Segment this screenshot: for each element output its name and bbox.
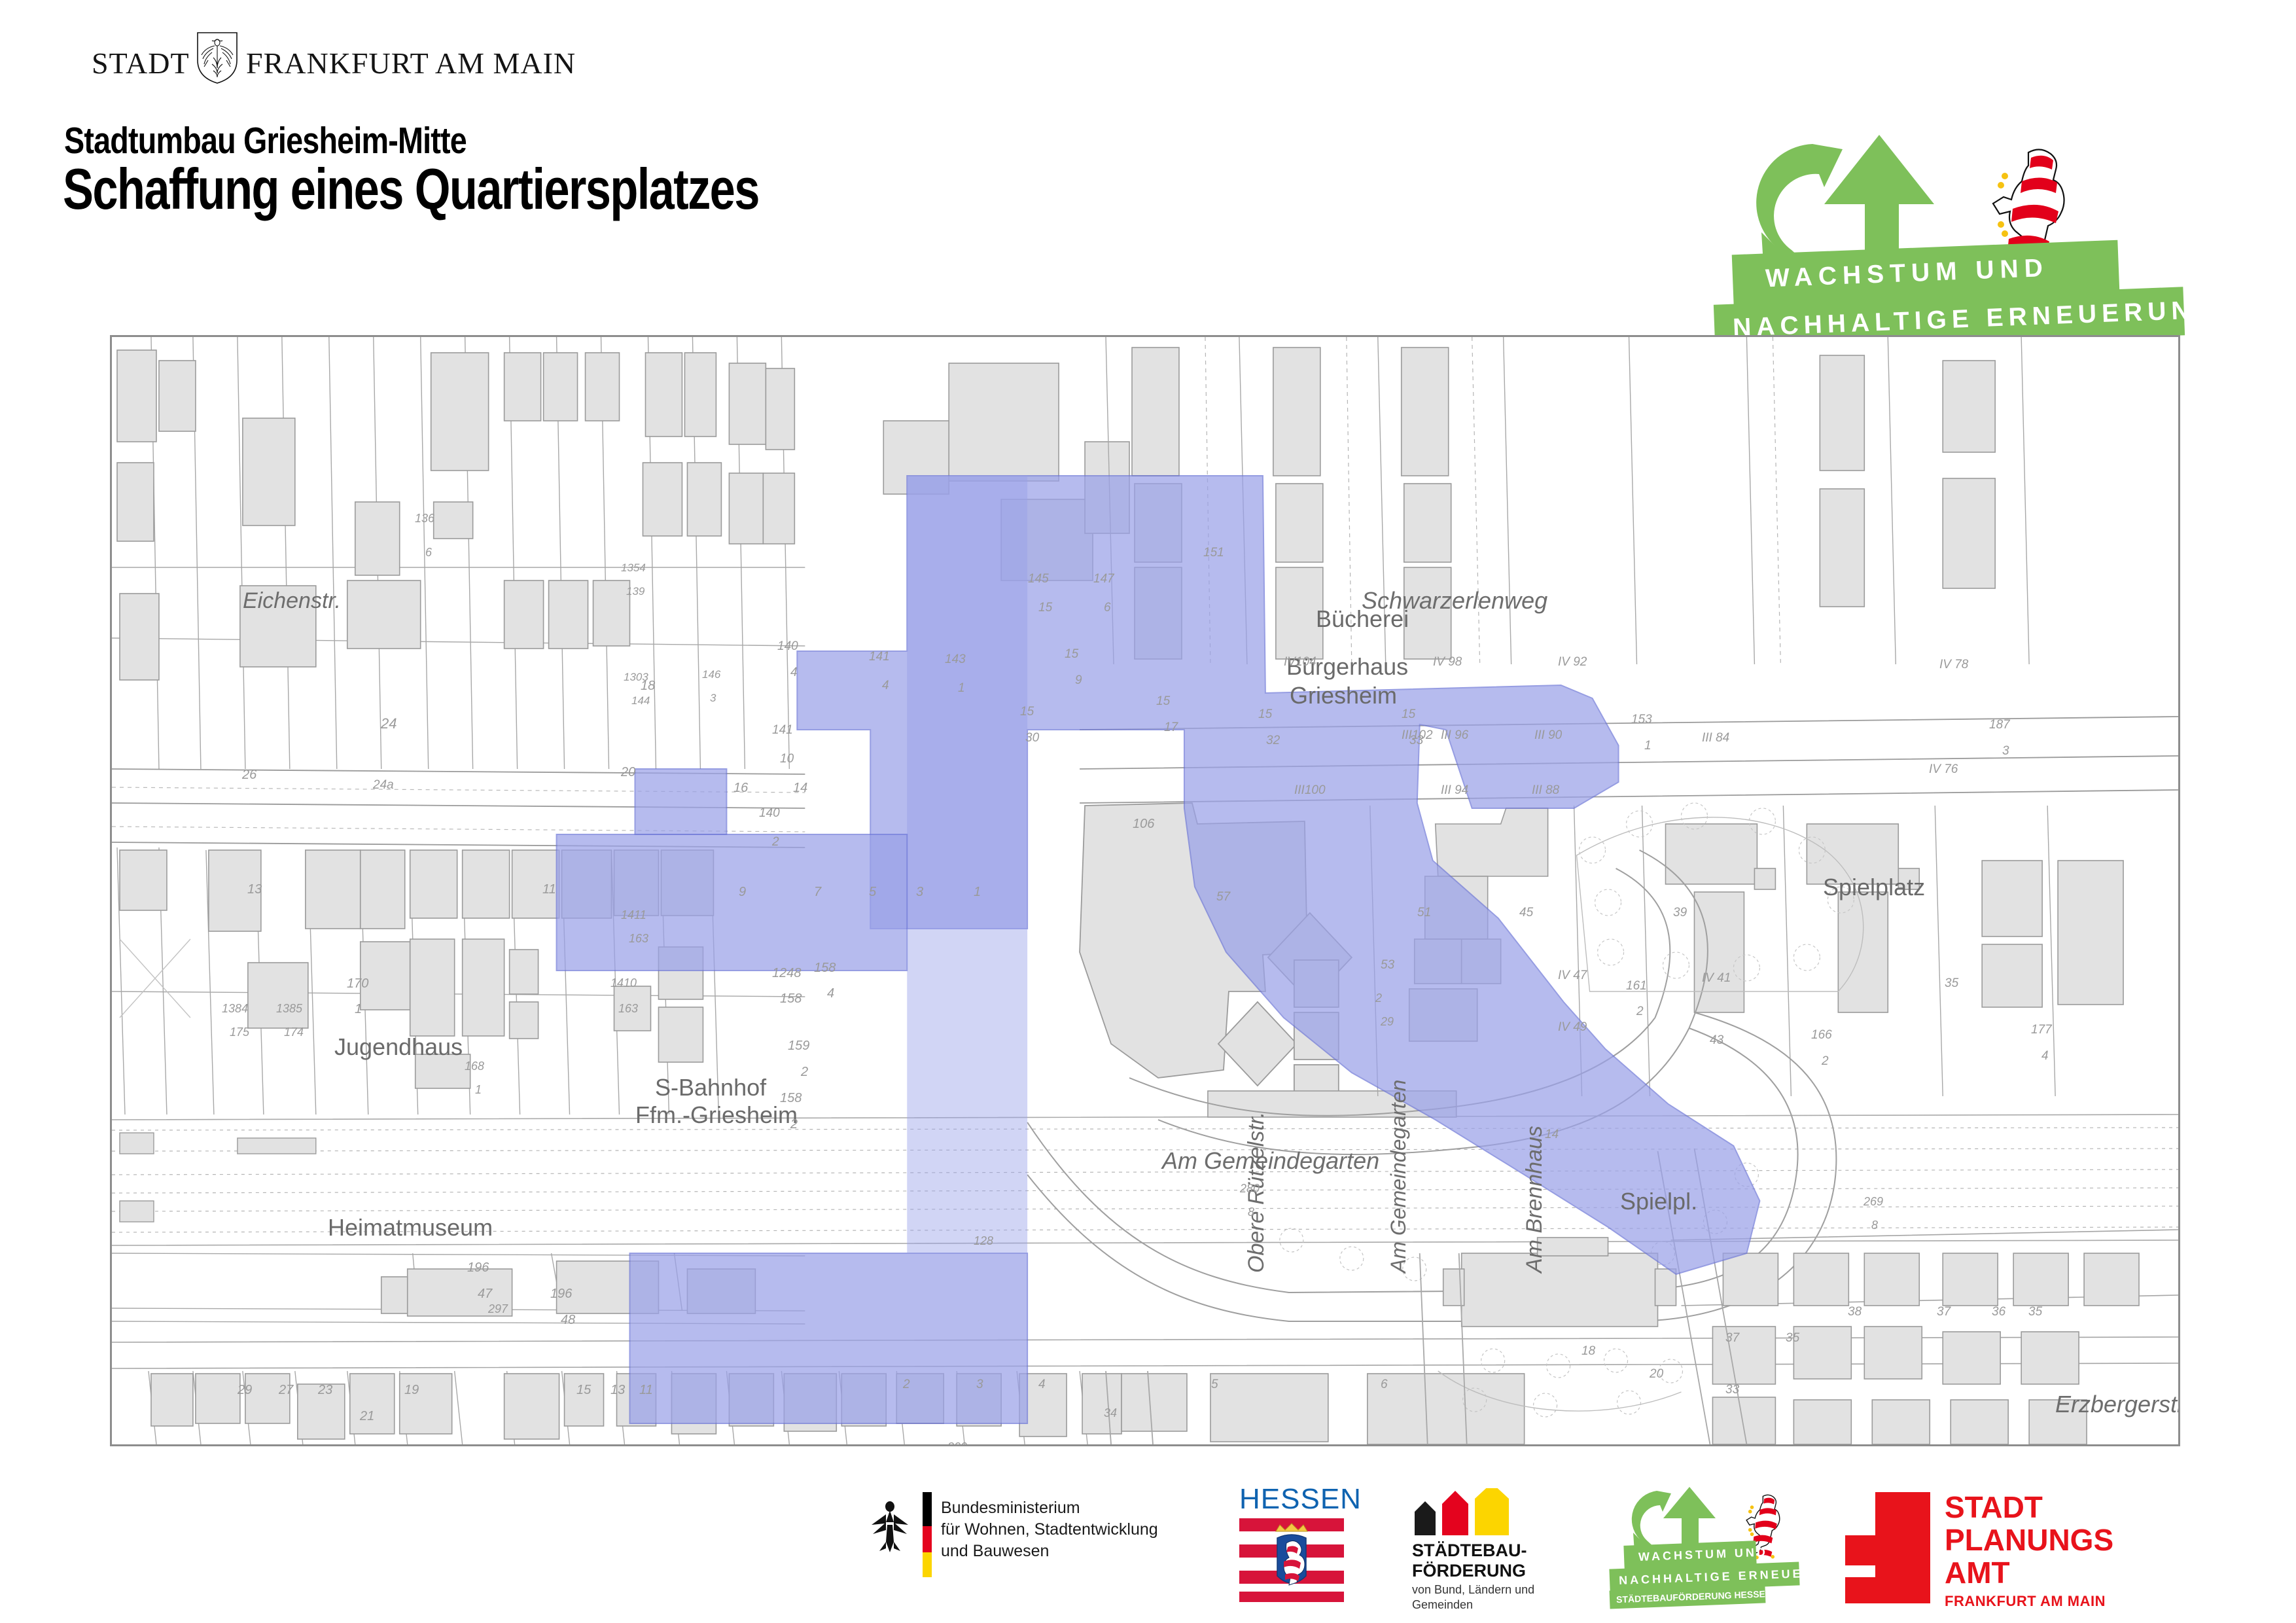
map-parcel-number: IV 49 bbox=[1558, 1020, 1587, 1035]
staedtebau-line1: STÄDTEBAU- bbox=[1412, 1541, 1527, 1561]
map-parcel-number: 3 bbox=[2002, 744, 2009, 758]
map-parcel-number: 15 bbox=[1020, 705, 1034, 719]
street-label-eichenstr: Eichenstr. bbox=[243, 588, 341, 614]
map-parcel-number: 300 bbox=[947, 1440, 967, 1446]
map-parcel-number: 11 bbox=[639, 1383, 653, 1398]
map-parcel-number: 35 bbox=[1945, 976, 1958, 991]
map-parcel-number: 161 bbox=[1626, 979, 1647, 993]
map-parcel-number: 4 bbox=[882, 679, 889, 693]
map-parcel-number: 140 bbox=[759, 806, 780, 821]
map-parcel-number: IV 78 bbox=[1939, 658, 1968, 672]
spa-line1: STADT bbox=[1945, 1491, 2043, 1524]
map-parcel-number: 26 bbox=[242, 768, 256, 783]
three-houses-icon bbox=[1412, 1488, 1523, 1535]
map-parcel-number: 21 bbox=[360, 1409, 374, 1424]
map-parcel-number: 36 bbox=[1992, 1305, 2005, 1319]
map-parcel-number: III100 bbox=[1294, 783, 1326, 798]
bmwsb-line2: für Wohnen, Stadtentwicklung bbox=[941, 1519, 1158, 1541]
map-parcel-number: 8 bbox=[1871, 1219, 1878, 1232]
map-parcel-number: 15 bbox=[1038, 601, 1052, 615]
map-parcel-number: 7 bbox=[814, 885, 821, 900]
map-parcel-number: IV104 bbox=[1284, 655, 1316, 669]
map-parcel-number: 9 bbox=[1075, 673, 1082, 688]
map-parcel-number: 3 bbox=[976, 1378, 983, 1392]
map-parcel-number: 57 bbox=[1216, 890, 1230, 904]
map-parcel-number: 35 bbox=[1786, 1331, 1799, 1346]
stadtplanungsamt-logo: STADT PLANUNGS AMT FRANKFURT AM MAIN bbox=[1845, 1478, 2185, 1618]
spa-line2: PLANUNGS bbox=[1945, 1524, 2113, 1556]
map-parcel-number: 3 bbox=[710, 692, 716, 705]
cadastral-map[interactable]: Eichenstr. Schwarzerlenweg Erzbergerstr.… bbox=[110, 335, 2180, 1446]
city-logo-text-frankfurt: FRANKFURT AM MAIN bbox=[246, 46, 576, 80]
map-parcel-number: 13 bbox=[247, 882, 262, 897]
street-label-am-gemeindegarten: Am Gemeindegarten bbox=[1162, 1147, 1379, 1175]
hessen-logo: HESSEN bbox=[1230, 1478, 1354, 1618]
map-parcel-number: 1 bbox=[974, 885, 981, 900]
map-parcel-number: 1 bbox=[475, 1083, 482, 1097]
map-parcel-number: IV 47 bbox=[1558, 969, 1587, 983]
map-parcel-number: 168 bbox=[465, 1060, 484, 1073]
map-parcel-number: 29 bbox=[1381, 1015, 1394, 1029]
bmwsb-line3: und Bauwesen bbox=[941, 1541, 1158, 1562]
map-parcel-number: 15 bbox=[1156, 694, 1170, 709]
map-parcel-number: 37 bbox=[1937, 1305, 1951, 1319]
bmwsb-logo: Bundesministerium für Wohnen, Stadtentwi… bbox=[870, 1478, 1184, 1618]
staedtebaufoerderung-logo: STÄDTEBAU- FÖRDERUNG von Bund, Ländern u… bbox=[1400, 1478, 1577, 1618]
map-parcel-number: 128 bbox=[974, 1234, 993, 1248]
map-parcel-number: IV 41 bbox=[1702, 971, 1731, 986]
map-parcel-number: 14 bbox=[1545, 1128, 1559, 1142]
map-parcel-number: 141 bbox=[772, 723, 793, 738]
map-place-label: Bücherei bbox=[1316, 605, 1409, 633]
street-label-am-brennhaus: Am Brennhaus bbox=[1522, 1126, 1547, 1273]
map-parcel-number: 166 bbox=[1811, 1028, 1832, 1043]
map-place-label: Spielpl. bbox=[1620, 1188, 1697, 1215]
frankfurt-eagle-crest-icon bbox=[196, 31, 238, 84]
map-parcel-number: 141 bbox=[869, 650, 890, 664]
map-parcel-number: 29 bbox=[238, 1383, 252, 1398]
map-parcel-number: 163 bbox=[618, 1002, 638, 1016]
bmwsb-text: Bundesministerium für Wohnen, Stadtentwi… bbox=[941, 1497, 1158, 1562]
map-parcel-number: 159 bbox=[788, 1039, 809, 1054]
street-label-erzbergerstr: Erzbergerstr. bbox=[2055, 1391, 2180, 1418]
map-parcel-number: 16 bbox=[733, 781, 748, 796]
map-parcel-number: 1411 bbox=[621, 908, 646, 922]
map-parcel-number: 45 bbox=[1519, 906, 1533, 920]
map-parcel-number: 297 bbox=[488, 1302, 508, 1316]
map-parcel-number: 1384 bbox=[222, 1002, 248, 1016]
map-parcel-number: III 88 bbox=[1532, 783, 1559, 798]
map-parcel-number: 144 bbox=[631, 694, 650, 707]
map-parcel-number: 1 bbox=[958, 681, 965, 696]
staedtebau-sub1: von Bund, Ländern und bbox=[1412, 1582, 1534, 1597]
map-parcel-number: 280 bbox=[1240, 1182, 1260, 1196]
map-parcel-number: 196 bbox=[467, 1260, 489, 1275]
map-parcel-number: 2 bbox=[772, 835, 779, 849]
map-parcel-number: 175 bbox=[230, 1026, 249, 1039]
map-parcel-number: 24 bbox=[381, 715, 397, 732]
city-logo: STADT FRANKFURT AM MAIN bbox=[92, 31, 510, 84]
map-parcel-number: 14 bbox=[793, 781, 807, 796]
map-parcel-number: 37 bbox=[1725, 1331, 1739, 1346]
map-parcel-number: 139 bbox=[626, 585, 645, 598]
map-parcel-number: III 90 bbox=[1534, 728, 1562, 743]
map-parcel-number: 1385 bbox=[276, 1002, 302, 1016]
map-parcel-number: 3 bbox=[916, 885, 923, 900]
map-parcel-number: 1 bbox=[355, 1002, 362, 1017]
map-parcel-number: 6 bbox=[1381, 1378, 1388, 1392]
map-place-label: Jugendhaus bbox=[334, 1033, 463, 1061]
map-parcel-number: 146 bbox=[702, 668, 720, 681]
map-parcel-number: 51 bbox=[1417, 906, 1431, 920]
map-parcel-number: 2 bbox=[903, 1378, 910, 1392]
map-parcel-number: 39 bbox=[1673, 906, 1687, 920]
map-parcel-number: 1410 bbox=[610, 976, 637, 990]
bundesadler-icon bbox=[870, 1496, 910, 1555]
map-parcel-number: 2 bbox=[790, 1117, 798, 1132]
map-parcel-number: 15 bbox=[1065, 647, 1078, 662]
map-parcel-number: 174 bbox=[284, 1026, 304, 1039]
map-parcel-number: 13 bbox=[610, 1383, 625, 1398]
map-parcel-number: 34 bbox=[1104, 1406, 1117, 1420]
staedtebau-sub: von Bund, Ländern und Gemeinden bbox=[1412, 1582, 1534, 1613]
map-parcel-number: 32 bbox=[1266, 734, 1280, 748]
map-parcel-number: 158 bbox=[780, 1091, 802, 1106]
map-parcel-number: 20 bbox=[1650, 1367, 1663, 1382]
map-parcel-number: 153 bbox=[1631, 713, 1652, 727]
spa-sub: FRANKFURT AM MAIN bbox=[1945, 1593, 2106, 1610]
map-parcel-number: 31 bbox=[1731, 1443, 1744, 1446]
map-parcel-number: III 96 bbox=[1441, 728, 1468, 743]
staedtebau-line2: FÖRDERUNG bbox=[1412, 1561, 1527, 1581]
staedtebau-sub2: Gemeinden bbox=[1412, 1597, 1534, 1613]
map-parcel-number: 145 bbox=[1028, 572, 1049, 586]
map-parcel-number: 158 bbox=[780, 991, 802, 1007]
map-parcel-number: 1303 bbox=[624, 671, 648, 684]
map-place-label: Griesheim bbox=[1290, 682, 1397, 709]
map-parcel-number: 20 bbox=[621, 765, 635, 780]
map-parcel-number: 53 bbox=[1381, 958, 1394, 972]
map-parcel-number: 5 bbox=[869, 885, 876, 900]
map-parcel-number: 269 bbox=[1863, 1195, 1883, 1209]
map-parcel-number: 2 bbox=[1375, 991, 1382, 1005]
map-parcel-number: 4 bbox=[2041, 1049, 2049, 1063]
map-parcel-number: 15 bbox=[576, 1383, 591, 1398]
map-parcel-number: 6 bbox=[1104, 601, 1111, 615]
map-place-label: Ffm.-Griesheim bbox=[635, 1101, 798, 1129]
hessen-wordmark: HESSEN bbox=[1239, 1483, 1362, 1516]
map-parcel-number: 47 bbox=[478, 1287, 492, 1302]
german-flag-bar-icon bbox=[923, 1492, 932, 1577]
map-parcel-number: 33 bbox=[1725, 1383, 1739, 1397]
footer-logo-bar: Bundesministerium für Wohnen, Stadtentwi… bbox=[0, 1478, 2296, 1618]
map-parcel-number: 163 bbox=[629, 932, 648, 946]
bmwsb-line1: Bundesministerium bbox=[941, 1497, 1158, 1519]
map-parcel-number: 27 bbox=[279, 1383, 293, 1398]
map-parcel-number: 10 bbox=[780, 752, 794, 766]
map-parcel-number: 30 bbox=[1025, 731, 1039, 745]
map-parcel-number: III 94 bbox=[1441, 783, 1468, 798]
map-parcel-number: III 84 bbox=[1702, 731, 1729, 745]
map-parcel-number: 4 bbox=[1038, 1378, 1046, 1392]
map-parcel-number: 1 bbox=[1644, 739, 1651, 753]
stadtplanungsamt-block-mark-icon bbox=[1845, 1492, 1930, 1603]
map-parcel-number: IV 92 bbox=[1558, 655, 1587, 669]
wachstum-logo-footer: WACHSTUM UND NACHHALTIGE ERNEUERUNG STÄD… bbox=[1610, 1478, 1826, 1618]
map-parcel-number: 106 bbox=[1133, 817, 1154, 832]
map-parcel-number: 6 bbox=[425, 546, 432, 560]
page-title: Schaffung eines Quartiersplatzes bbox=[63, 156, 759, 223]
map-parcel-number: 23 bbox=[318, 1383, 332, 1398]
map-parcel-number: 43 bbox=[1710, 1033, 1723, 1048]
city-logo-text-stadt: STADT bbox=[92, 46, 190, 80]
map-parcel-number: 136 bbox=[415, 512, 434, 526]
map-parcel-number: 143 bbox=[945, 652, 966, 667]
map-parcel-number: 2 bbox=[1822, 1054, 1829, 1069]
map-parcel-number: 147 bbox=[1093, 572, 1114, 586]
map-parcel-number: 170 bbox=[347, 976, 368, 991]
map-parcel-number: 15 bbox=[1402, 707, 1415, 722]
map-parcel-number: 140 bbox=[777, 639, 798, 654]
map-parcel-number: 18 bbox=[1581, 1344, 1595, 1359]
map-parcel-number: 17 bbox=[1164, 721, 1178, 735]
map-parcel-number: 33 bbox=[1409, 734, 1423, 748]
map-parcel-number: 9 bbox=[739, 885, 746, 900]
map-place-label: S-Bahnhof bbox=[655, 1074, 766, 1101]
map-parcel-number: 187 bbox=[1989, 718, 2010, 732]
map-parcel-number: 158 bbox=[814, 961, 836, 976]
map-parcel-number: 1354 bbox=[621, 562, 646, 575]
map-parcel-number: IV 76 bbox=[1929, 762, 1958, 777]
map-parcel-number: 35 bbox=[2028, 1305, 2042, 1319]
map-parcel-number: 196 bbox=[550, 1287, 572, 1302]
map-parcel-number: 11 bbox=[542, 882, 556, 897]
map-parcel-number: 177 bbox=[2031, 1023, 2052, 1037]
map-parcel-number: 19 bbox=[404, 1383, 419, 1398]
map-place-label: Heimatmuseum bbox=[328, 1214, 493, 1241]
map-parcel-number: 4 bbox=[827, 986, 834, 1001]
map-parcel-number: 2 bbox=[1636, 1005, 1644, 1019]
map-parcel-number: 38 bbox=[1848, 1305, 1862, 1319]
hessen-coat-of-arms-icon bbox=[1239, 1516, 1344, 1602]
map-parcel-number: 48 bbox=[561, 1313, 575, 1328]
spa-line3: AMT bbox=[1945, 1556, 2010, 1589]
map-parcel-number: 24a bbox=[373, 778, 394, 793]
staedtebau-name: STÄDTEBAU- FÖRDERUNG bbox=[1412, 1541, 1527, 1581]
map-parcel-number: 1248 bbox=[772, 966, 802, 981]
map-parcel-number: 151 bbox=[1203, 546, 1224, 560]
map-parcel-number: 8 bbox=[1248, 1205, 1254, 1219]
map-parcel-number: 15 bbox=[1258, 707, 1272, 722]
map-parcel-number: 5 bbox=[1211, 1378, 1218, 1392]
map-parcel-number: 4 bbox=[790, 666, 798, 680]
map-parcel-number: 2 bbox=[801, 1065, 808, 1080]
street-label-am-gemeindegarten-2: Am Gemeindegarten bbox=[1386, 1080, 1411, 1273]
map-place-label: Spielplatz bbox=[1823, 874, 1925, 901]
map-parcel-number: IV 98 bbox=[1433, 655, 1462, 669]
